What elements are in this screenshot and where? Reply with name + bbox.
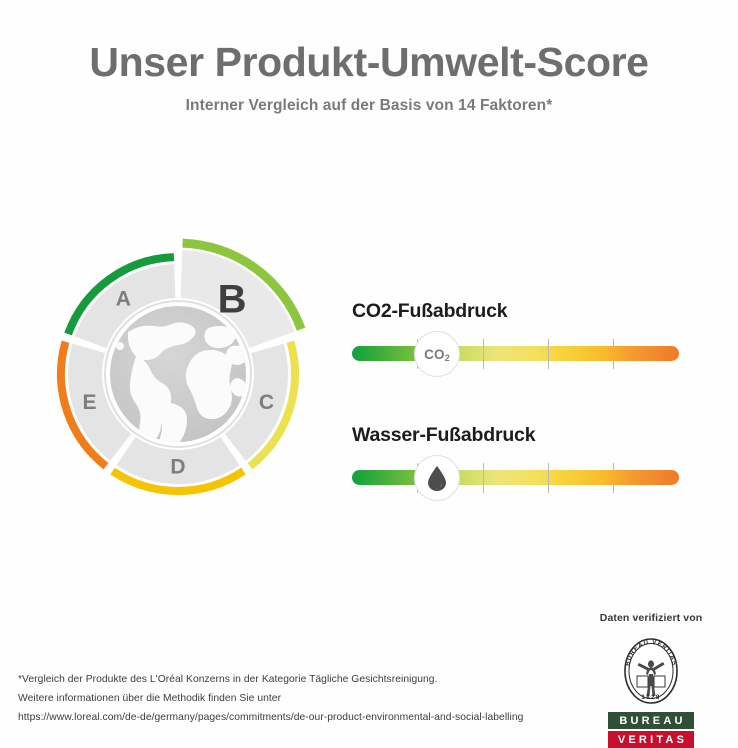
score-wheel: BCDEA	[32, 228, 324, 520]
seal-year: 1828	[641, 694, 660, 701]
bureau-wordmark: BUREAU	[608, 712, 694, 729]
wheel-label-b: B	[218, 278, 247, 322]
wheel-label-e: E	[83, 391, 97, 414]
footnote-line-3[interactable]: https://www.loreal.com/de-de/germany/pag…	[18, 708, 563, 727]
wheel-label-d: D	[170, 456, 185, 479]
co2-footprint-panel: CO2-Fußabdruck CO2	[352, 300, 692, 377]
footnote-line-2: Weitere informationen über die Methodik …	[18, 689, 563, 708]
product-environmental-score-infographic: Unser Produkt-Umwelt-Score Interner Verg…	[0, 0, 738, 738]
co2-marker-icon: CO2	[414, 331, 460, 377]
veritas-wordmark: VERITAS	[608, 731, 694, 748]
page-subtitle: Interner Vergleich auf der Basis von 14 …	[0, 97, 738, 115]
water-drop-marker-icon	[414, 455, 460, 501]
water-footprint-title: Wasser-Fußabdruck	[352, 424, 692, 447]
water-tick	[548, 463, 549, 493]
verifier-block: Daten verifiziert von BUREAU VERITAS	[572, 612, 730, 748]
score-wheel-svg: BCDEA	[32, 228, 324, 520]
co2-scale: CO2	[352, 331, 679, 377]
wheel-label-a: A	[116, 287, 131, 310]
water-scale	[352, 455, 679, 501]
footnote: *Vergleich der Produkte des L'Oréal Konz…	[18, 670, 563, 727]
water-drop-icon	[425, 464, 449, 492]
co2-tick	[548, 339, 549, 369]
water-scale-bar	[352, 470, 679, 485]
bureau-veritas-seal-icon: BUREAU VERITAS 1828	[619, 634, 683, 708]
water-tick	[613, 463, 614, 493]
water-tick	[483, 463, 484, 493]
globe-icon	[105, 301, 253, 469]
verifier-label: Daten verifiziert von	[572, 612, 730, 624]
co2-tick	[613, 339, 614, 369]
header: Unser Produkt-Umwelt-Score Interner Verg…	[0, 40, 738, 115]
bureau-veritas-logo: BUREAU VERITAS 1828 BUREAU VERITAS	[572, 634, 730, 748]
co2-marker-label: CO2	[424, 347, 450, 362]
footprint-panels: CO2-Fußabdruck CO2 Wasser-Fußabdruck	[352, 300, 692, 501]
co2-scale-bar	[352, 346, 679, 361]
page-title: Unser Produkt-Umwelt-Score	[0, 40, 738, 85]
footnote-line-1: *Vergleich der Produkte des L'Oréal Konz…	[18, 670, 563, 689]
wheel-label-c: C	[259, 391, 274, 414]
co2-footprint-title: CO2-Fußabdruck	[352, 300, 692, 323]
water-footprint-panel: Wasser-Fußabdruck	[352, 424, 692, 501]
co2-tick	[483, 339, 484, 369]
